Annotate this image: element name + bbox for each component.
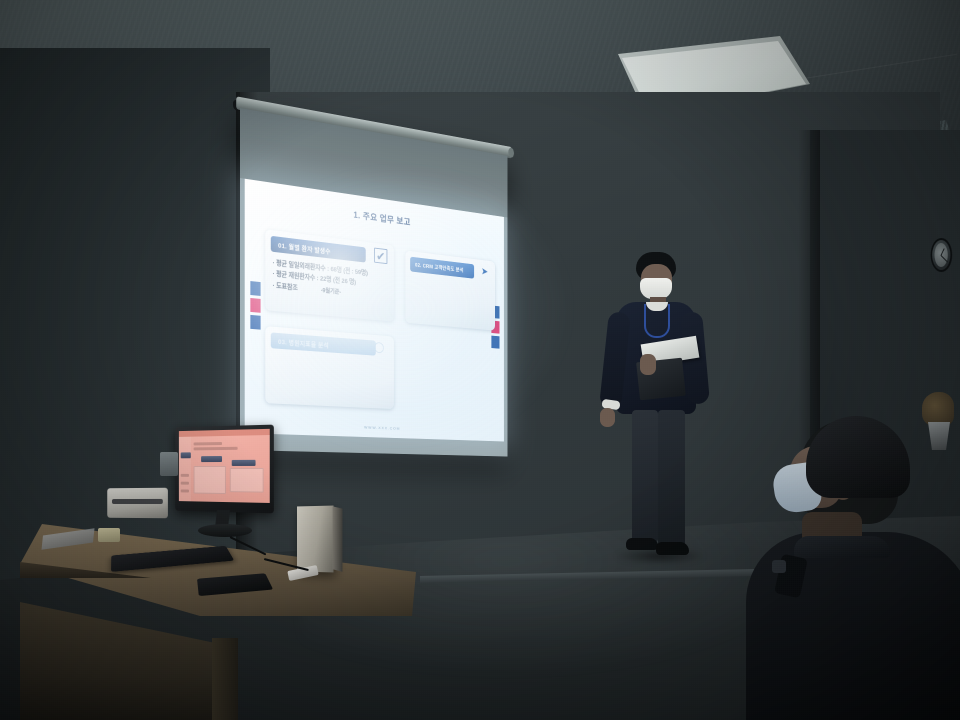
- presenter-left-hand: [600, 408, 615, 427]
- toolbar-button[interactable]: [232, 460, 256, 466]
- pc-tower[interactable]: [297, 506, 334, 573]
- slide-card-01: 01. 월별 환자 발생수 ✔ · 평균 일일외래환자수 : 68명 (전 : …: [265, 229, 394, 321]
- checkmark-icon: ✔: [374, 248, 387, 265]
- presenter-left-shoe: [626, 538, 658, 550]
- attendee-strap-buckle: [772, 560, 786, 573]
- projector-screen: 1. 주요 업무 보고 01. 월별 환자 발생수 ✔ · 평균 일일외래환자수…: [240, 108, 508, 457]
- card-01-body: · 평균 일일외래환자수 : 68명 (전 : 59명) · 평균 재원환자수 …: [273, 258, 389, 304]
- face-mask-icon: [640, 278, 672, 299]
- small-desk-box: [98, 528, 120, 542]
- decor-square-pink: [250, 298, 260, 313]
- sidebar-button[interactable]: [181, 452, 191, 458]
- presenter-person: [596, 252, 712, 568]
- presenter-right-leg: [658, 410, 685, 546]
- attendee-jacket-collar: [794, 536, 890, 558]
- presenter-right-hand: [640, 354, 656, 375]
- slide-watermark: WWW.XXX.COM: [245, 420, 504, 434]
- projected-slide: 1. 주요 업무 보고 01. 월별 환자 발생수 ✔ · 평균 일일외래환자수…: [245, 179, 504, 442]
- cursor-arrow-icon: ➤: [479, 264, 491, 280]
- card-03-header: 03. 병원지표율 분석: [271, 332, 376, 355]
- lanyard-icon: [644, 304, 670, 338]
- seated-attendee: [760, 420, 960, 720]
- sidebar-row: [181, 489, 189, 492]
- card-01-footer-note: -9월기준-: [321, 288, 341, 296]
- pc-tower-side-panel: [333, 506, 343, 572]
- presenter-right-shoe: [656, 542, 689, 555]
- card-01-footer-label: · 도표참조: [273, 282, 298, 291]
- monitor-stand-base: [198, 524, 252, 537]
- card-02-header: 02. CRM 고객만족도 분석: [410, 257, 474, 279]
- decor-square-blue: [250, 315, 260, 330]
- slide-decor-left: [250, 281, 260, 333]
- content-panel: [194, 466, 226, 494]
- meeting-room-scene: 1. 주요 업무 보고 01. 월별 환자 발생수 ✔ · 평균 일일외래환자수…: [0, 0, 960, 720]
- toolbar-button[interactable]: [201, 456, 222, 462]
- slide-card-03: 03. 병원지표율 분석 ◯: [265, 326, 394, 409]
- sidebar-row: [181, 482, 189, 485]
- slide-card-02: 02. CRM 고객만족도 분석 ➤: [405, 251, 495, 331]
- presenter-left-leg: [632, 410, 658, 542]
- content-row: [194, 442, 222, 445]
- sidebar-row: [181, 474, 189, 477]
- decor-square-blue: [491, 336, 499, 349]
- screen-roller-end-cap: [508, 147, 514, 158]
- desk-leg: [212, 638, 238, 720]
- content-panel: [230, 468, 264, 493]
- decor-square-blue: [250, 281, 260, 296]
- attendee-hair: [806, 416, 910, 498]
- content-row: [194, 447, 238, 451]
- monitor-screen[interactable]: [179, 429, 270, 503]
- monitor-bezel: [175, 425, 274, 514]
- desktop-monitor[interactable]: [172, 426, 277, 554]
- circle-icon: ◯: [372, 339, 385, 355]
- app-title-bar: [179, 429, 270, 437]
- power-outlet[interactable]: [160, 452, 178, 476]
- computer-desk: [20, 506, 420, 720]
- printer-device: [107, 488, 168, 519]
- printer-paper-slot: [112, 499, 163, 504]
